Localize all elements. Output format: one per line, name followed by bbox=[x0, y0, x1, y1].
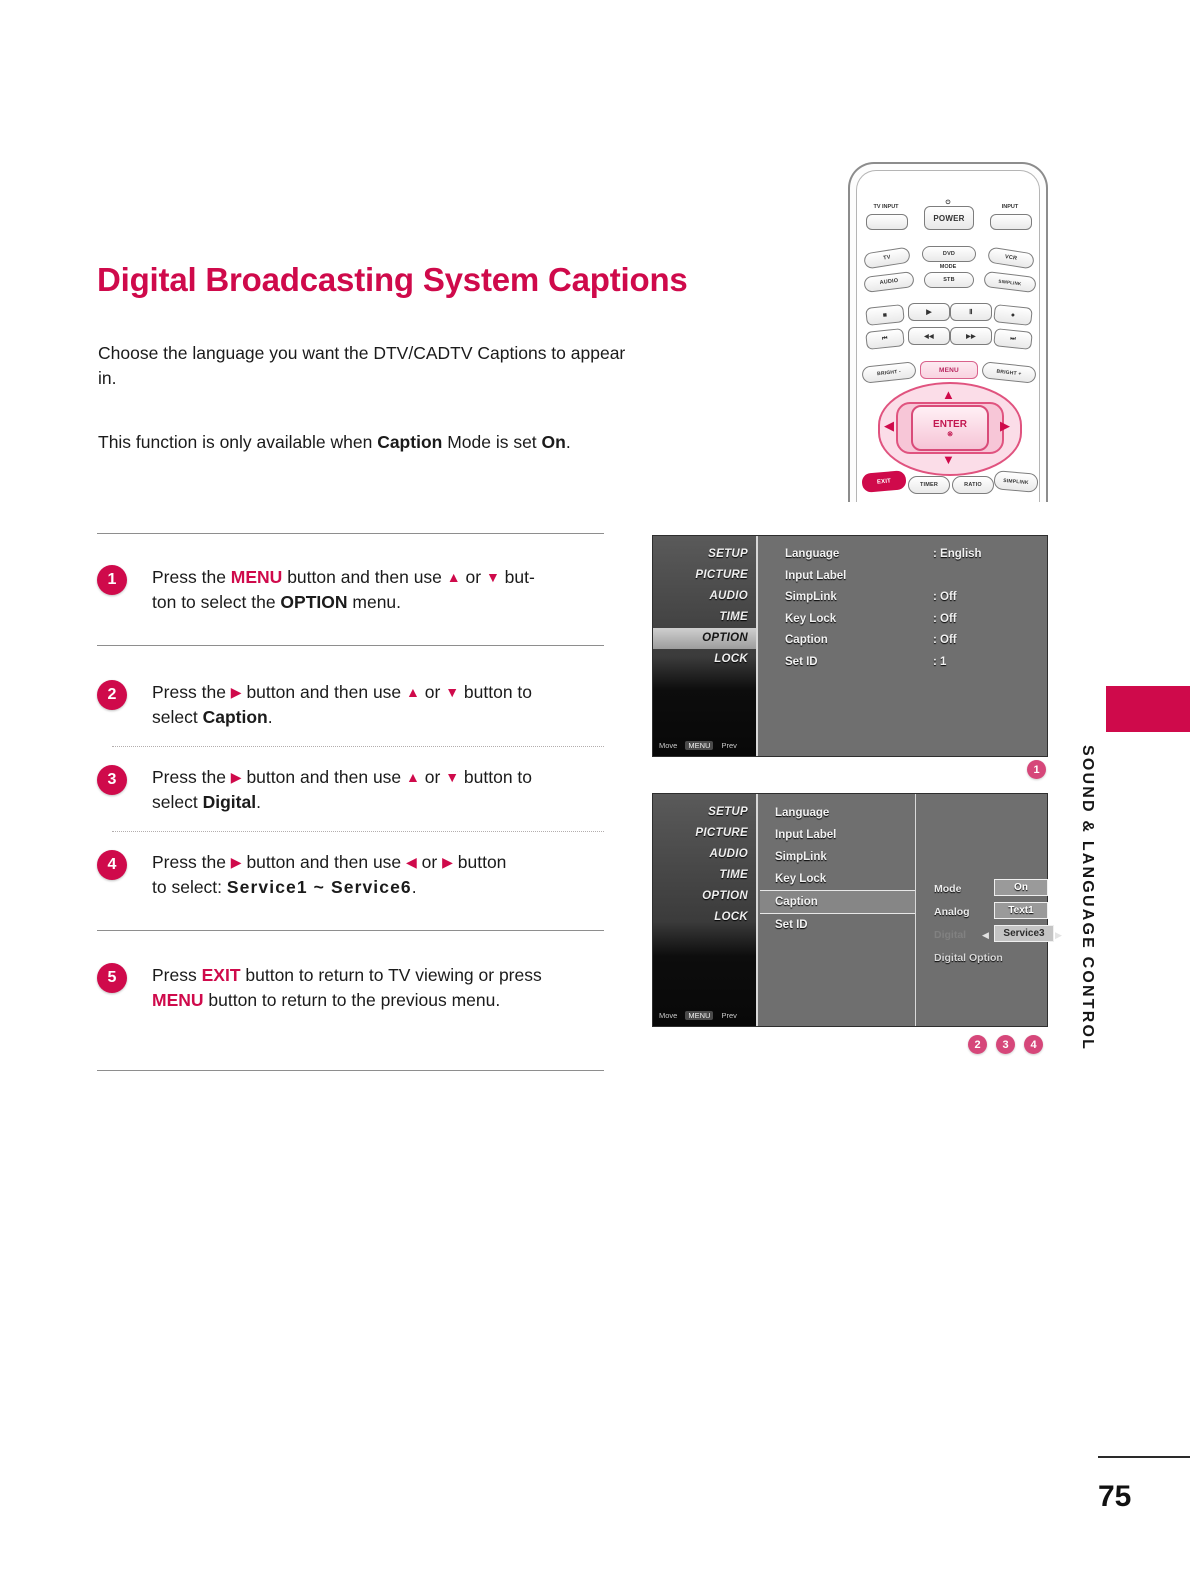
manual-page: Digital Broadcasting System Captions Cho… bbox=[0, 0, 1190, 1586]
remote-button-enter[interactable]: ENTER ⊗ bbox=[911, 405, 989, 451]
osd2-label-caption: Caption bbox=[775, 891, 818, 913]
osd1-sidebar: SETUP PICTURE AUDIO TIME OPTION LOCK Mov… bbox=[653, 536, 758, 756]
remote-button-fast-forward[interactable]: ▶▶ bbox=[950, 327, 992, 345]
step-3-text: Press the ▶ button and then use ▲ or ▼ b… bbox=[152, 765, 617, 815]
callout-badge-1: 1 bbox=[1027, 760, 1046, 779]
step2-pre: Press the bbox=[152, 682, 231, 702]
divider-after-step1 bbox=[97, 645, 604, 646]
osd1-hint-bar: Move MENU Prev bbox=[659, 741, 752, 750]
step-1: 1 Press the MENU button and then use ▲ o… bbox=[97, 565, 617, 615]
osd1-label-key-lock: Key Lock bbox=[785, 609, 836, 631]
osd1-sidebar-item-option[interactable]: OPTION bbox=[653, 628, 756, 649]
remote-button-menu[interactable]: MENU bbox=[920, 361, 978, 379]
intro2-bold-on: On bbox=[542, 432, 566, 452]
osd2-settings-list: Language Input Label SimpLink Key Lock C… bbox=[760, 802, 915, 936]
remote-button-power[interactable]: POWER bbox=[924, 206, 974, 230]
callout-badge-2: 2 bbox=[968, 1035, 987, 1054]
step-1-text: Press the MENU button and then use ▲ or … bbox=[152, 565, 617, 615]
remote-button-input[interactable] bbox=[990, 214, 1032, 230]
step3-line2-pre: select bbox=[152, 792, 203, 812]
osd2-hint-bar: Move MENU Prev bbox=[659, 1011, 752, 1020]
remote-button-record[interactable]: ● bbox=[993, 304, 1033, 326]
step4-or: or bbox=[417, 852, 442, 872]
step4-line2-pre: to select: bbox=[152, 877, 227, 897]
remote-button-dvd[interactable]: DVD bbox=[922, 246, 976, 262]
step-badge-3: 3 bbox=[97, 765, 127, 795]
intro2-end: . bbox=[566, 432, 571, 452]
osd1-label-language: Language bbox=[785, 544, 839, 566]
osd2-sidebar: SETUP PICTURE AUDIO TIME OPTION LOCK Mov… bbox=[653, 794, 758, 1026]
step1-end: but- bbox=[500, 567, 535, 587]
osd1-row-language[interactable]: Language : English bbox=[760, 544, 1047, 566]
step1-mid: button and then use bbox=[282, 567, 446, 587]
osd1-label-caption: Caption bbox=[785, 630, 828, 652]
step2-end: button to bbox=[459, 682, 532, 702]
divider-bottom bbox=[97, 1070, 604, 1071]
osd2-label-analog: Analog bbox=[934, 906, 970, 918]
osd2-row-set-id[interactable]: Set ID bbox=[760, 914, 915, 936]
osd1-hint-prev: Prev bbox=[721, 741, 736, 750]
step-badge-1: 1 bbox=[97, 565, 127, 595]
step5-key-menu: MENU bbox=[152, 990, 204, 1010]
step3-pre: Press the bbox=[152, 767, 231, 787]
step-5: 5 Press EXIT button to return to TV view… bbox=[97, 963, 617, 1013]
osd2-sidebar-item-lock[interactable]: LOCK bbox=[653, 907, 756, 928]
osd1-value-caption: : Off bbox=[933, 630, 957, 652]
page-title: Digital Broadcasting System Captions bbox=[97, 262, 717, 298]
divider-top bbox=[97, 533, 604, 534]
step2-line2-pre: select bbox=[152, 707, 203, 727]
step4-end: button bbox=[453, 852, 507, 872]
step-4-text: Press the ▶ button and then use ◀ or ▶ b… bbox=[152, 850, 617, 900]
step-2: 2 Press the ▶ button and then use ▲ or ▼… bbox=[97, 680, 617, 730]
page-number: 75 bbox=[1098, 1480, 1131, 1514]
intro2-mid: Mode is set bbox=[442, 432, 541, 452]
nav-down-icon[interactable]: ▼ bbox=[942, 453, 955, 466]
step5-end: button to return to TV viewing or press bbox=[241, 965, 542, 985]
callout-badge-4: 4 bbox=[1024, 1035, 1043, 1054]
arrow-down-icon: ▼ bbox=[445, 684, 459, 700]
osd1-sidebar-item-audio[interactable]: AUDIO bbox=[653, 586, 756, 607]
osd2-value-analog[interactable]: Text1 bbox=[994, 902, 1048, 919]
dotted-divider-step3-4 bbox=[112, 831, 604, 832]
remote-label-tv-input: TV INPUT bbox=[864, 204, 908, 210]
osd2-hint-prev: Prev bbox=[721, 1011, 736, 1020]
remote-label-mode: MODE bbox=[918, 264, 978, 270]
intro-paragraph-2: This function is only available when Cap… bbox=[98, 430, 628, 455]
step3-mid: button and then use bbox=[242, 767, 406, 787]
step5-pre: Press bbox=[152, 965, 202, 985]
remote-button-pause[interactable]: Ⅱ bbox=[950, 303, 992, 321]
osd1-value-set-id: : 1 bbox=[933, 652, 946, 674]
osd2-row-simplink[interactable]: SimpLink bbox=[760, 846, 915, 868]
osd2-label-digital: Digital bbox=[934, 929, 966, 941]
osd2-sidebar-item-time[interactable]: TIME bbox=[653, 865, 756, 886]
section-tab-marker bbox=[1106, 686, 1190, 732]
osd2-sidebar-item-picture[interactable]: PICTURE bbox=[653, 823, 756, 844]
osd1-row-set-id[interactable]: Set ID : 1 bbox=[760, 652, 1047, 674]
osd2-row-input-label[interactable]: Input Label bbox=[760, 824, 915, 846]
osd-screenshot-option-menu: SETUP PICTURE AUDIO TIME OPTION LOCK Mov… bbox=[652, 535, 1048, 757]
osd2-caption-options-panel: Mode On Analog Text1 Digital ◀ Service3 … bbox=[916, 794, 1047, 1026]
step1-line2-end: menu. bbox=[348, 592, 402, 612]
step4-target: Service1 ~ Service6 bbox=[227, 877, 412, 897]
step-badge-5: 5 bbox=[97, 963, 127, 993]
remote-control-illustration: TV INPUT ⏻ POWER INPUT TV DVD VCR MODE A… bbox=[848, 162, 1048, 502]
intro2-pre: This function is only available when bbox=[98, 432, 377, 452]
step2-mid: button and then use bbox=[242, 682, 406, 702]
osd1-label-input-label: Input Label bbox=[785, 566, 846, 588]
remote-button-play[interactable]: ▶ bbox=[908, 303, 950, 321]
remote-button-timer[interactable]: TIMER bbox=[908, 476, 950, 494]
nav-right-icon[interactable]: ▶ bbox=[1000, 419, 1010, 432]
enter-sub-icon: ⊗ bbox=[947, 430, 953, 438]
osd1-row-input-label[interactable]: Input Label bbox=[760, 566, 1047, 588]
step1-target: OPTION bbox=[280, 592, 347, 612]
remote-button-stb[interactable]: STB bbox=[924, 272, 974, 288]
step-2-text: Press the ▶ button and then use ▲ or ▼ b… bbox=[152, 680, 617, 730]
remote-button-ratio[interactable]: RATIO bbox=[952, 476, 994, 494]
chevron-left-icon[interactable]: ◀ bbox=[982, 930, 989, 941]
osd2-label-simplink: SimpLink bbox=[775, 846, 827, 868]
chevron-right-icon[interactable]: ▶ bbox=[1055, 930, 1062, 941]
osd1-row-caption[interactable]: Caption : Off bbox=[760, 630, 1047, 652]
step-4: 4 Press the ▶ button and then use ◀ or ▶… bbox=[97, 850, 617, 900]
step5-line2-end: button to return to the previous menu. bbox=[204, 990, 501, 1010]
arrow-down-icon: ▼ bbox=[445, 769, 459, 785]
osd1-label-set-id: Set ID bbox=[785, 652, 818, 674]
osd1-sidebar-item-picture[interactable]: PICTURE bbox=[653, 565, 756, 586]
osd1-settings-list: Language : English Input Label SimpLink … bbox=[760, 536, 1047, 756]
osd1-sidebar-item-setup[interactable]: SETUP bbox=[653, 544, 756, 565]
intro-paragraph-1: Choose the language you want the DTV/CAD… bbox=[98, 341, 628, 391]
osd2-sidebar-item-option[interactable]: OPTION bbox=[653, 886, 756, 907]
divider-before-step5 bbox=[97, 930, 604, 931]
step4-pre: Press the bbox=[152, 852, 231, 872]
step4-mid: button and then use bbox=[242, 852, 406, 872]
arrow-up-icon: ▲ bbox=[447, 569, 461, 585]
arrow-up-icon: ▲ bbox=[406, 769, 420, 785]
step2-target: Caption bbox=[203, 707, 268, 727]
callout-badge-3: 3 bbox=[996, 1035, 1015, 1054]
remote-button-tv-input[interactable] bbox=[866, 214, 908, 230]
step-badge-2: 2 bbox=[97, 680, 127, 710]
osd2-label-input-label: Input Label bbox=[775, 824, 836, 846]
arrow-left-icon: ◀ bbox=[406, 854, 417, 870]
osd2-hint-move: Move bbox=[659, 1011, 677, 1020]
osd1-hint-key: MENU bbox=[685, 741, 713, 750]
step1-line2-pre: ton to select the bbox=[152, 592, 280, 612]
section-tab-label: SOUND & LANGUAGE CONTROL bbox=[1078, 745, 1096, 1075]
osd2-label-language: Language bbox=[775, 802, 829, 824]
intro2-bold-caption: Caption bbox=[377, 432, 442, 452]
osd2-hint-key: MENU bbox=[685, 1011, 713, 1020]
nav-left-icon[interactable]: ◀ bbox=[884, 419, 894, 432]
step-badge-4: 4 bbox=[97, 850, 127, 880]
step2-or: or bbox=[420, 682, 445, 702]
osd2-row-language[interactable]: Language bbox=[760, 802, 915, 824]
enter-label: ENTER bbox=[933, 419, 967, 430]
remote-button-next-track[interactable]: ⏭ bbox=[993, 328, 1033, 350]
arrow-down-icon: ▼ bbox=[486, 569, 500, 585]
osd1-value-simplink: : Off bbox=[933, 587, 957, 609]
osd-screenshot-caption-submenu: SETUP PICTURE AUDIO TIME OPTION LOCK Mov… bbox=[652, 793, 1048, 1027]
step1-pre: Press the bbox=[152, 567, 231, 587]
step2-line2-end: . bbox=[268, 707, 273, 727]
step3-or: or bbox=[420, 767, 445, 787]
osd1-sidebar-item-time[interactable]: TIME bbox=[653, 607, 756, 628]
arrow-right-icon-2: ▶ bbox=[442, 854, 453, 870]
remote-button-simplink[interactable]: SIMPLINK bbox=[993, 470, 1038, 493]
osd2-sidebar-item-setup[interactable]: SETUP bbox=[653, 802, 756, 823]
osd2-value-mode[interactable]: On bbox=[994, 879, 1048, 896]
step1-or: or bbox=[461, 567, 486, 587]
arrow-right-icon: ▶ bbox=[231, 684, 242, 700]
step-3: 3 Press the ▶ button and then use ▲ or ▼… bbox=[97, 765, 617, 815]
osd2-label-mode: Mode bbox=[934, 883, 961, 895]
osd1-row-key-lock[interactable]: Key Lock : Off bbox=[760, 609, 1047, 631]
osd1-hint-move: Move bbox=[659, 741, 677, 750]
step1-key-menu: MENU bbox=[231, 567, 283, 587]
nav-up-icon[interactable]: ▲ bbox=[942, 388, 955, 401]
step4-line2-end: . bbox=[412, 877, 417, 897]
osd2-label-set-id: Set ID bbox=[775, 914, 808, 936]
osd1-value-language: : English bbox=[933, 544, 982, 566]
step3-line2-end: . bbox=[256, 792, 261, 812]
osd1-row-simplink[interactable]: SimpLink : Off bbox=[760, 587, 1047, 609]
remote-button-rewind[interactable]: ◀◀ bbox=[908, 327, 950, 345]
dotted-divider-step2-3 bbox=[112, 746, 604, 747]
osd2-row-caption-selected[interactable]: Caption bbox=[760, 890, 915, 914]
arrow-right-icon: ▶ bbox=[231, 769, 242, 785]
osd2-sidebar-item-audio[interactable]: AUDIO bbox=[653, 844, 756, 865]
osd1-sidebar-item-lock[interactable]: LOCK bbox=[653, 649, 756, 670]
page-footer-rule bbox=[1098, 1456, 1190, 1458]
osd2-label-digital-option[interactable]: Digital Option bbox=[934, 952, 1003, 964]
remote-label-input: INPUT bbox=[988, 204, 1032, 210]
step3-end: button to bbox=[459, 767, 532, 787]
osd2-label-key-lock: Key Lock bbox=[775, 868, 826, 890]
step3-target: Digital bbox=[203, 792, 256, 812]
osd2-value-digital[interactable]: Service3 bbox=[994, 925, 1054, 942]
arrow-up-icon: ▲ bbox=[406, 684, 420, 700]
step-5-text: Press EXIT button to return to TV viewin… bbox=[152, 963, 617, 1013]
osd2-row-key-lock[interactable]: Key Lock bbox=[760, 868, 915, 890]
osd1-label-simplink: SimpLink bbox=[785, 587, 837, 609]
arrow-right-icon: ▶ bbox=[231, 854, 242, 870]
step5-key-exit: EXIT bbox=[202, 965, 241, 985]
osd1-value-key-lock: : Off bbox=[933, 609, 957, 631]
